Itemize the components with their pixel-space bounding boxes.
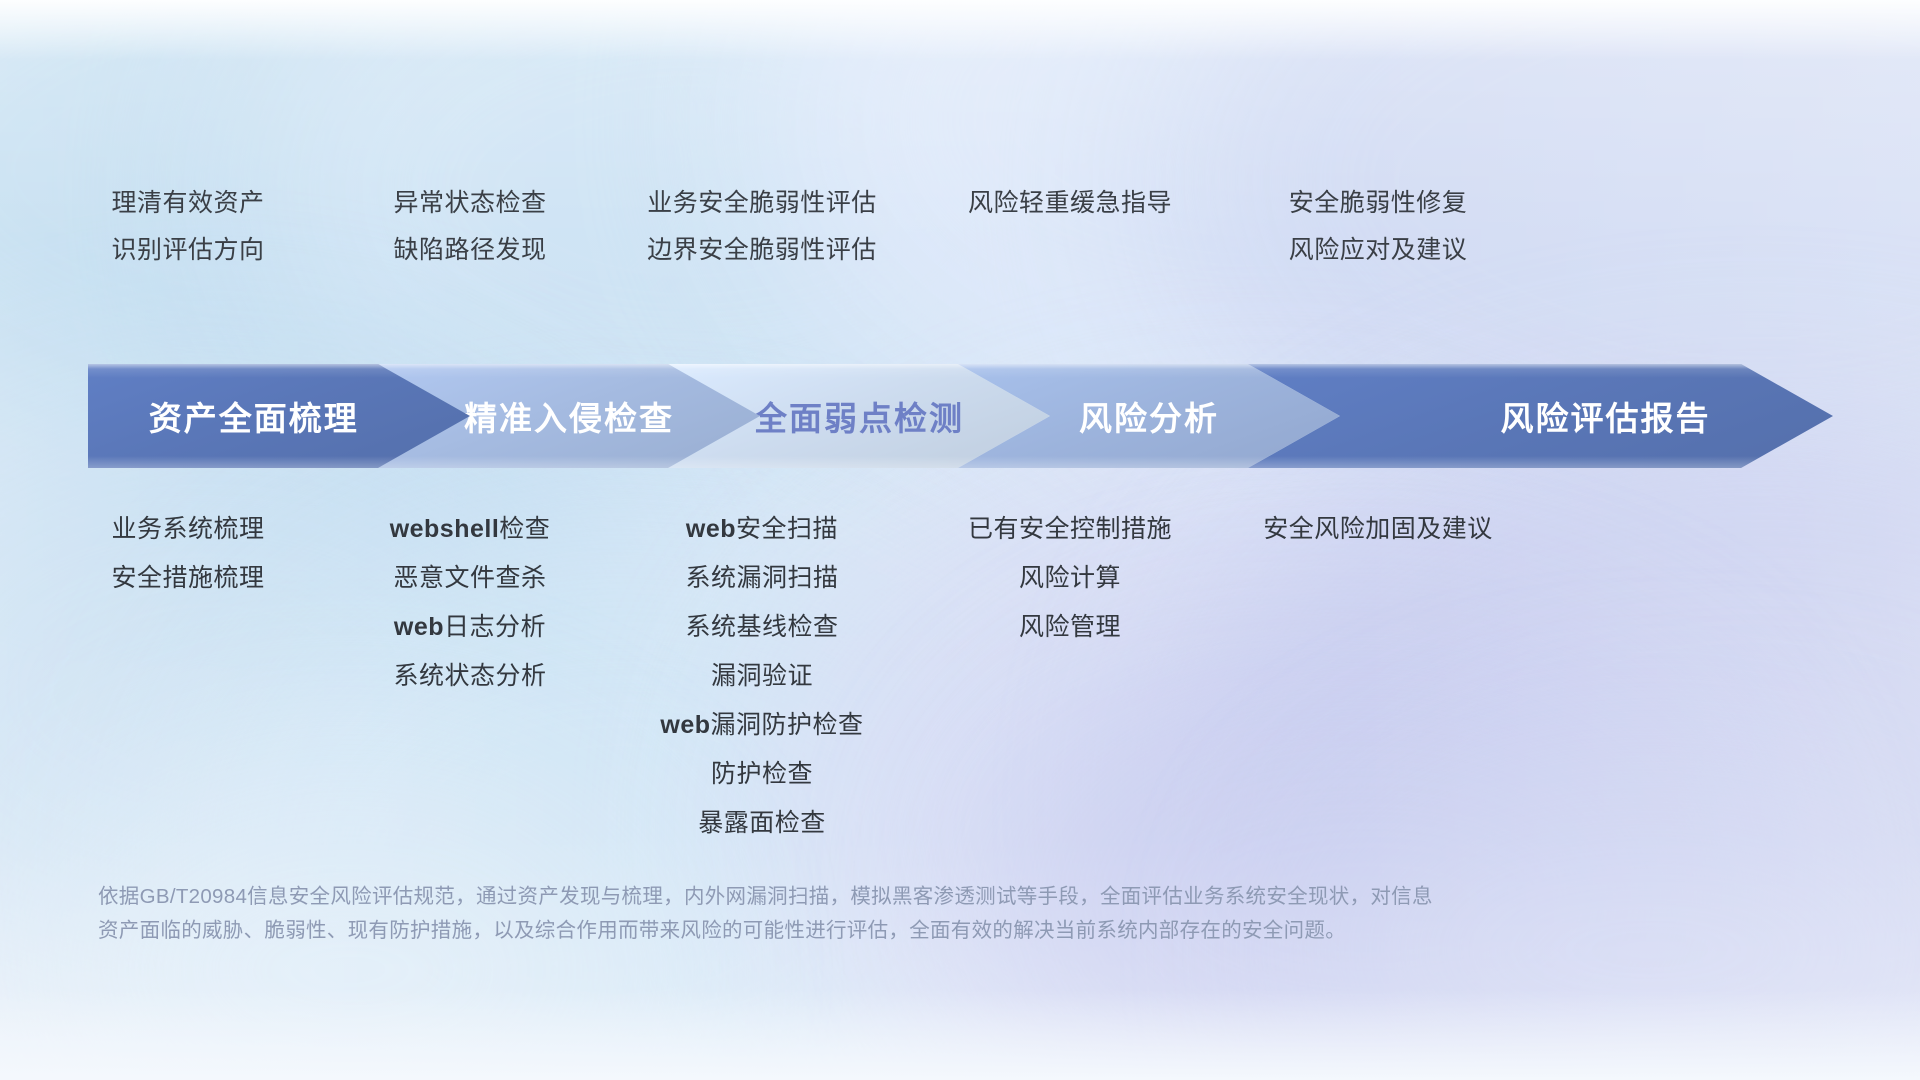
detail-list-item: 安全措施梳理 [111, 554, 264, 603]
top-annotation-item: 业务安全脆弱性评估 [647, 180, 877, 227]
detail-list-item: 系统状态分析 [393, 652, 546, 701]
detail-list-item: web日志分析 [394, 603, 546, 652]
detail-list-item: 安全风险加固及建议 [1263, 505, 1493, 554]
process-diagram: 理清有效资产识别评估方向异常状态检查缺陷路径发现业务安全脆弱性评估边界安全脆弱性… [0, 0, 1920, 1080]
detail-list-item: 已有安全控制措施 [968, 505, 1172, 554]
top-annotation-item: 缺陷路径发现 [393, 227, 546, 274]
chevron-stage-asset-inventory[interactable]: 资产全面梳理 [88, 364, 470, 468]
detail-list-item: 系统基线检查 [685, 603, 838, 652]
footer-line-1: 依据GB/T20984信息安全风险评估规范，通过资产发现与梳理，内外网漏洞扫描，… [98, 880, 1578, 914]
footer-line-2: 资产面临的威胁、脆弱性、现有防护措施，以及综合作用而带来风险的可能性进行评估，全… [98, 914, 1578, 948]
detail-list-item: web安全扫描 [686, 505, 838, 554]
detail-list-item: 业务系统梳理 [111, 505, 264, 554]
top-annotations-risk-report: 安全脆弱性修复风险应对及建议 [1178, 180, 1578, 274]
top-annotations-row: 理清有效资产识别评估方向异常状态检查缺陷路径发现业务安全脆弱性评估边界安全脆弱性… [70, 180, 1850, 290]
top-annotation-item: 理清有效资产 [111, 180, 264, 227]
detail-list-item: 暴露面检查 [698, 799, 826, 848]
detail-list-item: web漏洞防护检查 [660, 701, 863, 750]
detail-list-item: webshell检查 [390, 505, 551, 554]
detail-list-risk-report: 安全风险加固及建议 [1168, 505, 1588, 554]
detail-list-item: 风险计算 [1019, 554, 1121, 603]
top-annotation-item: 边界安全脆弱性评估 [647, 227, 877, 274]
chevron-process-band: 资产全面梳理精准入侵检查全面弱点检测风险分析风险评估报告 [88, 364, 1833, 468]
detail-list-item: 防护检查 [711, 750, 813, 799]
detail-list-item: 系统漏洞扫描 [685, 554, 838, 603]
chevron-label: 资产全面梳理 [88, 392, 470, 440]
top-annotation-item: 安全脆弱性修复 [1289, 180, 1468, 227]
footer-description: 依据GB/T20984信息安全风险评估规范，通过资产发现与梳理，内外网漏洞扫描，… [98, 880, 1578, 948]
detail-list-item: 漏洞验证 [711, 652, 813, 701]
top-annotation-item: 风险应对及建议 [1289, 227, 1468, 274]
top-annotation-item: 识别评估方向 [111, 227, 264, 274]
top-annotation-item: 风险轻重缓急指导 [968, 180, 1172, 227]
top-annotation-item: 异常状态检查 [393, 180, 546, 227]
detail-list-item: 恶意文件查杀 [393, 554, 546, 603]
detail-list-item: 风险管理 [1019, 603, 1121, 652]
